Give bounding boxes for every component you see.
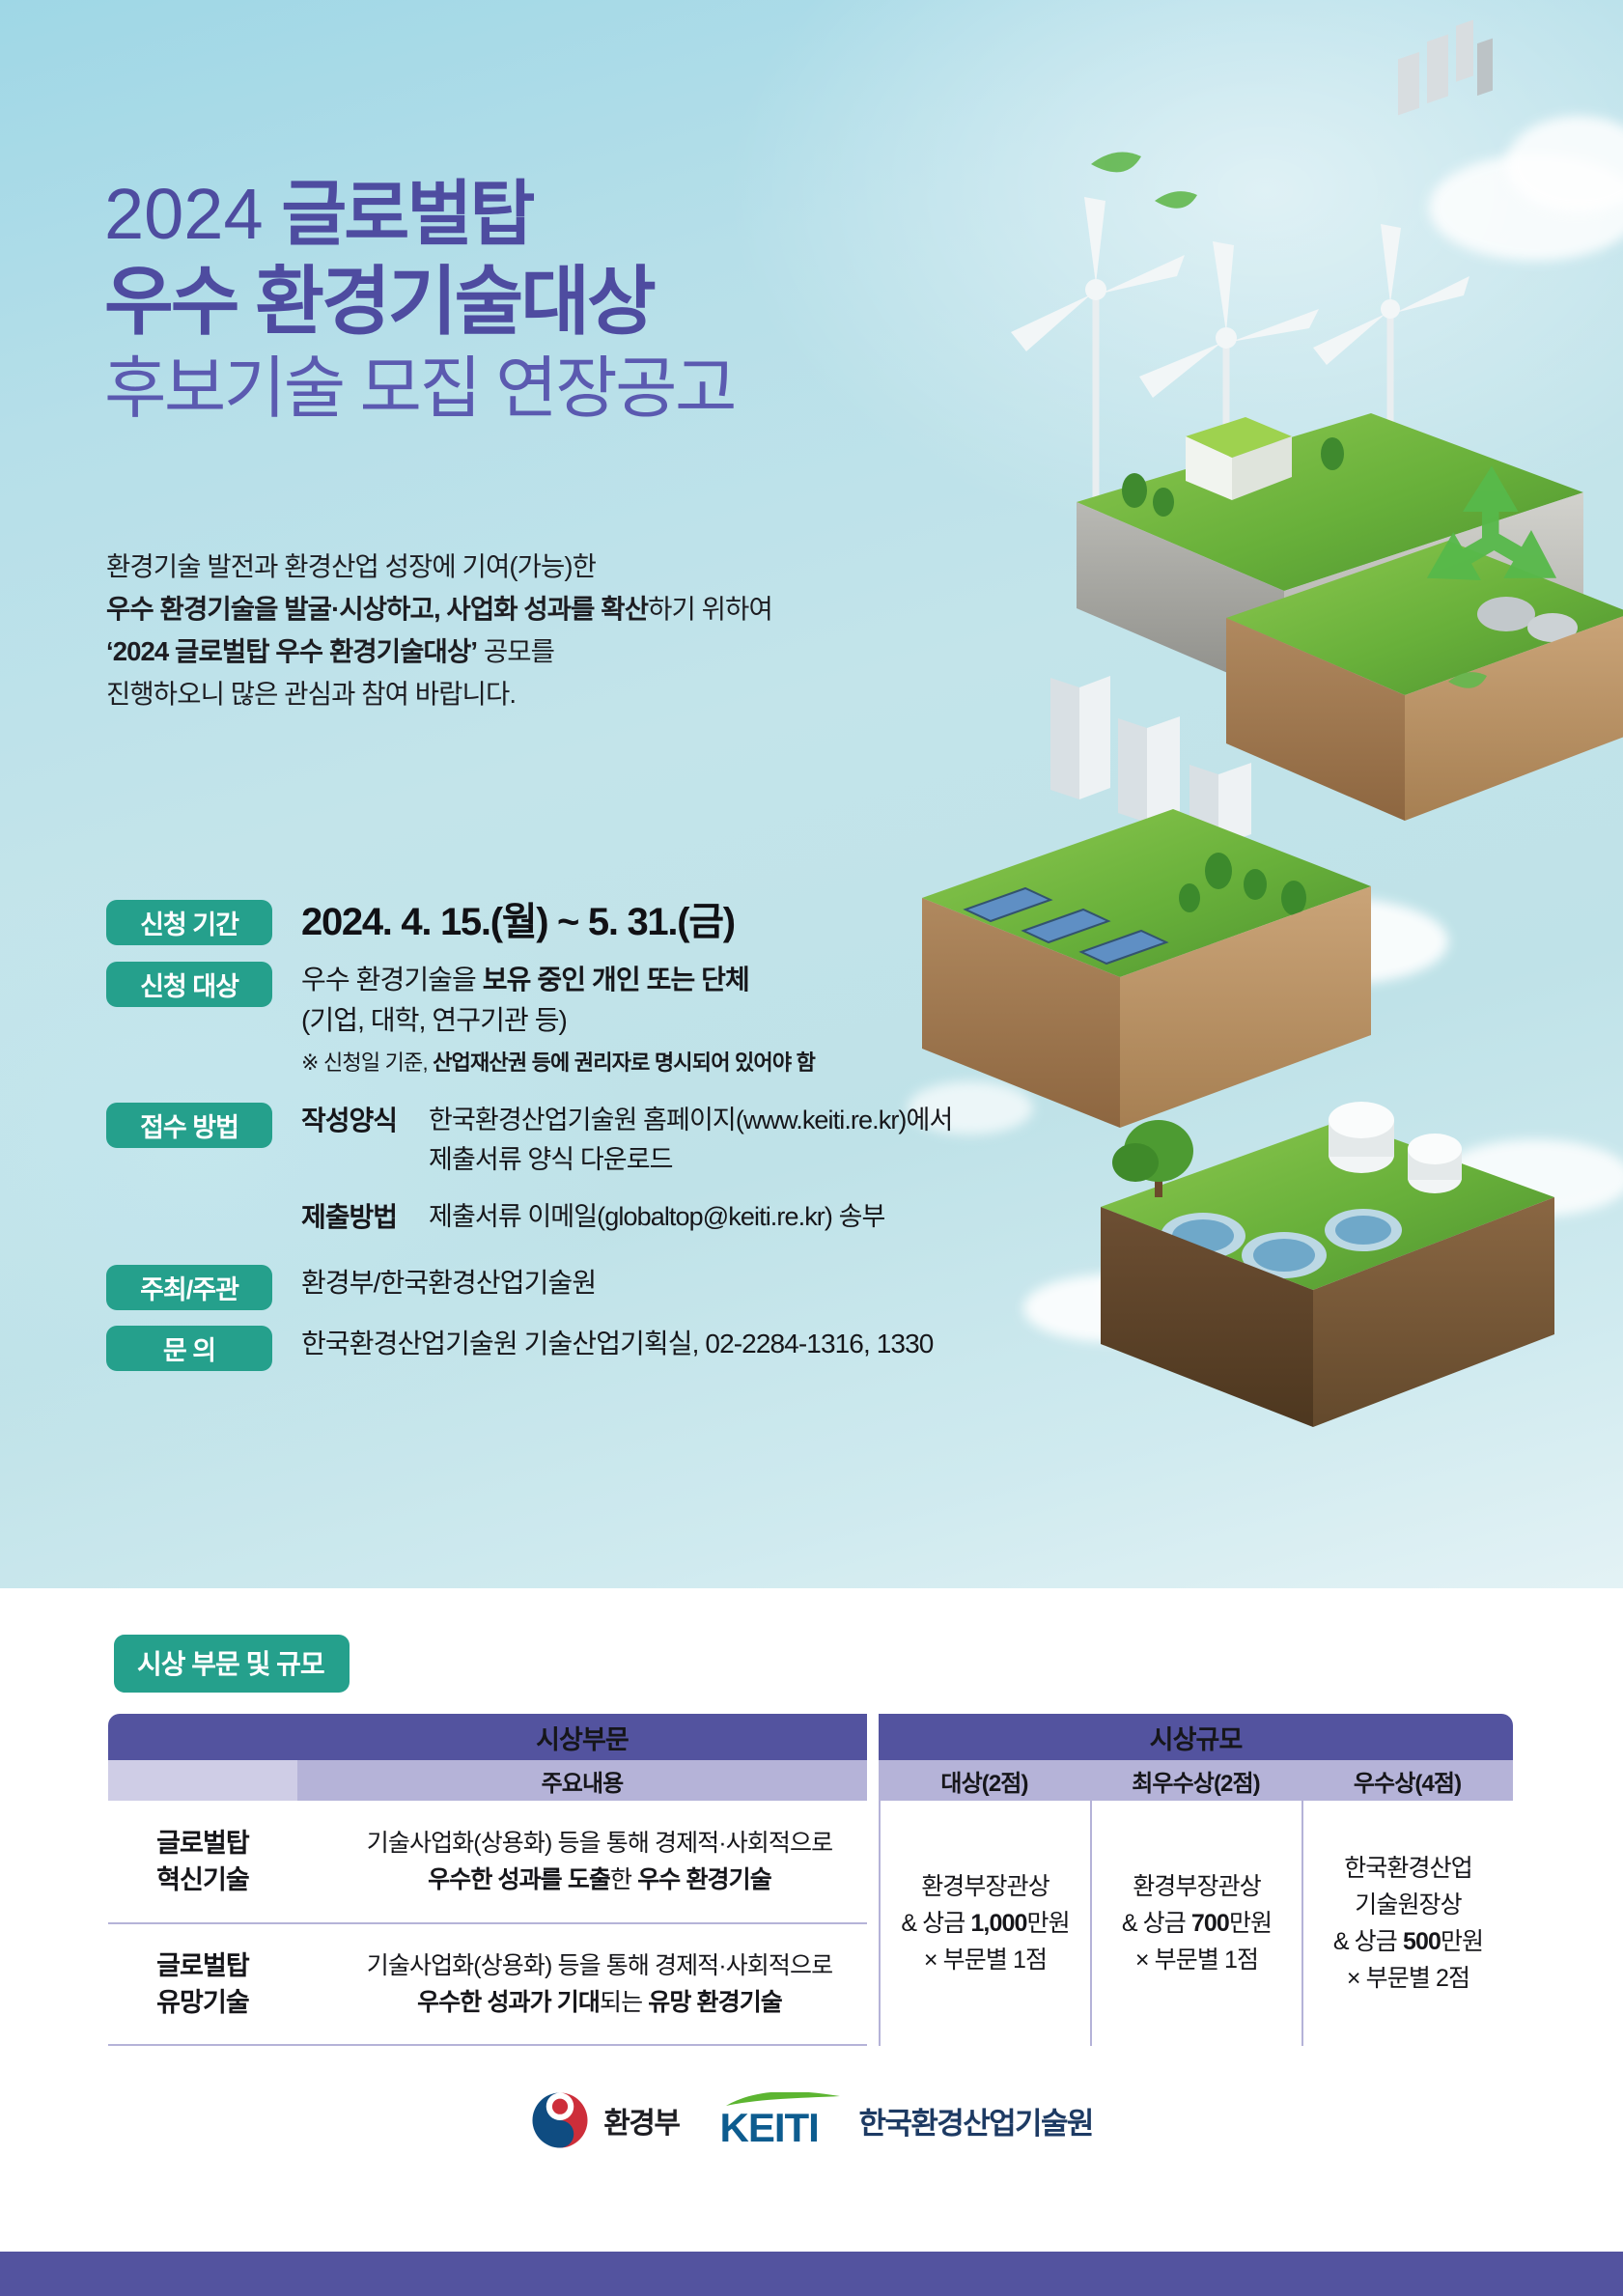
subheader-grand-prize: 대상(2점)	[879, 1760, 1090, 1801]
announcement-info-list: 신청 기간 2024. 4. 15.(월) ~ 5. 31.(금) 신청 대상 …	[106, 898, 1188, 1385]
row2-desc-line2: 우수한 성과가 기대되는 유망 환경기술	[332, 1984, 867, 2021]
header-column-gap	[867, 1714, 879, 1760]
table-row: 글로벌탑 혁신기술 기술사업화(상용화) 등을 통해 경제적·사회적으로 우수한…	[108, 1801, 1513, 1924]
prize-excellent-suffix: 만원	[1229, 1910, 1272, 1937]
prize-grand-line2: & 상금 1,000만원	[886, 1905, 1084, 1942]
info-row-period: 신청 기간 2024. 4. 15.(월) ~ 5. 31.(금)	[106, 898, 1188, 946]
intro-line-3: ‘2024 글로벌탑 우수 환경기술대상’ 공모를	[106, 630, 772, 673]
prize-excellent-line3: × 부문별 1점	[1098, 1942, 1296, 1978]
cloud-decoration	[1226, 898, 1448, 985]
method-submit-label: 제출방법	[301, 1197, 429, 1238]
subheader-merit-prize: 우수상(4점)	[1301, 1760, 1513, 1801]
taegeuk-icon	[530, 2090, 590, 2150]
info-contact-body: 한국환경산업기술원 기술산업기획실, 02-2284-1316, 1330	[301, 1324, 933, 1364]
keiti-logo-group: KEITI 한국환경산업기술원	[720, 2092, 1093, 2148]
prize-grand-line1: 환경부장관상	[886, 1868, 1084, 1905]
row1-desc-plain: 한	[610, 1866, 637, 1893]
header-award-scale: 시상규모	[879, 1714, 1513, 1760]
prize-merit-suffix: 만원	[1441, 1928, 1483, 1955]
awards-header-sub-row: 주요내용 대상(2점) 최우수상(2점) 우수상(4점)	[108, 1760, 1513, 1801]
method-form-row: 작성양식 한국환경산업기술원 홈페이지(www.keiti.re.kr)에서 제…	[301, 1101, 952, 1180]
awards-panel: 시상 부문 및 규모 시상부문 시상규모 주요내용 대상(2점) 최우수상(2점…	[0, 1588, 1623, 2296]
subheader-blank	[108, 1760, 297, 1801]
badge-application-method: 접수 방법	[106, 1103, 272, 1148]
house-icon	[1186, 417, 1292, 961]
prize-excellent-cell: 환경부장관상 & 상금 700만원 × 부문별 1점	[1090, 1801, 1301, 2046]
row1-desc-line2: 우수한 성과를 도출한 우수 환경기술	[332, 1862, 867, 1898]
target-line-1-plain: 우수 환경기술을	[301, 965, 483, 994]
note-bold: 산업재산권 등에 권리자로 명시되어 있어야 함	[433, 1050, 815, 1075]
row2-category-line1: 글로벌탑	[108, 1947, 297, 1984]
prize-grand-prefix: & 상금	[901, 1910, 970, 1937]
row2-description: 기술사업화(상용화) 등을 통해 경제적·사회적으로 우수한 성과가 기대되는 …	[297, 1924, 867, 2046]
title-year: 2024	[104, 174, 264, 254]
prize-merit-line2: & 상금 500만원	[1309, 1923, 1507, 1960]
row2-desc-plain: 되는	[600, 1989, 648, 2016]
prize-excellent-line1: 환경부장관상	[1098, 1868, 1296, 1905]
row1-category-line1: 글로벌탑	[108, 1825, 297, 1862]
cloud-decoration	[1439, 1139, 1623, 1217]
badge-application-target: 신청 대상	[106, 962, 272, 1007]
row2-category-line2: 유망기술	[108, 1984, 297, 2021]
prize-grand-line3: × 부문별 1점	[886, 1942, 1084, 1978]
application-period-value: 2024. 4. 15.(월) ~ 5. 31.(금)	[301, 898, 735, 946]
info-row-target: 신청 대상 우수 환경기술을 보유 중인 개인 또는 단체 (기업, 대학, 연…	[106, 960, 1188, 1079]
note-plain: 신청일 기준,	[323, 1050, 433, 1075]
row1-desc-bold2: 우수 환경기술	[637, 1866, 771, 1893]
row2-desc-bold1: 우수한 성과가 기대	[417, 1989, 600, 2016]
prize-merit-prefix: & 상금	[1333, 1928, 1403, 1955]
intro-line-2-bold: 우수 환경기술을 발굴·시상하고, 사업화 성과를 확산	[106, 594, 648, 624]
row2-category: 글로벌탑 유망기술	[108, 1924, 297, 2046]
keiti-korean-name: 한국환경산업기술원	[859, 2099, 1093, 2142]
title-main: 글로벌탑	[281, 174, 532, 254]
intro-line-4: 진행하오니 많은 관심과 참여 바랍니다.	[106, 673, 772, 715]
awards-section-badge: 시상 부문 및 규모	[114, 1635, 350, 1693]
info-row-contact: 문 의 한국환경산업기술원 기술산업기획실, 02-2284-1316, 133…	[106, 1324, 1188, 1371]
row1-desc-bold1: 우수한 성과를 도출	[428, 1866, 610, 1893]
info-method-body: 작성양식 한국환경산업기술원 홈페이지(www.keiti.re.kr)에서 제…	[301, 1101, 952, 1238]
poster-hero-panel: 2024 글로벌탑 우수 환경기술대상 후보기술 모집 연장공고 환경기술 발전…	[0, 0, 1623, 1588]
intro-paragraph: 환경기술 발전과 환경산업 성장에 기여(가능)한 우수 환경기술을 발굴·시상…	[106, 546, 772, 715]
row-gap-cell	[867, 1924, 879, 2046]
method-form-line-1: 한국환경산업기술원 홈페이지(www.keiti.re.kr)에서	[429, 1101, 952, 1140]
method-form-text: 한국환경산업기술원 홈페이지(www.keiti.re.kr)에서 제출서류 양…	[429, 1101, 952, 1180]
target-line-1: 우수 환경기술을 보유 중인 개인 또는 단체	[301, 960, 815, 1000]
info-row-host: 주최/주관 환경부/한국환경산업기술원	[106, 1263, 1188, 1310]
row1-category-line2: 혁신기술	[108, 1862, 297, 1898]
intro-line-2-tail: 하기 위하여	[648, 594, 772, 624]
awards-table: 시상부문 시상규모 주요내용 대상(2점) 최우수상(2점) 우수상(4점) 글…	[108, 1714, 1513, 2046]
moe-logo-group: 환경부	[530, 2090, 679, 2150]
subheader-main-content: 주요내용	[297, 1760, 867, 1801]
subheader-excellent-prize: 최우수상(2점)	[1090, 1760, 1301, 1801]
keiti-wordmark: KEITI	[720, 2108, 819, 2148]
row2-desc-bold2: 유망 환경기술	[648, 1989, 782, 2016]
title-line-2: 우수 환경기술대상	[104, 257, 735, 346]
intro-line-3-bold: ‘2024 글로벌탑 우수 환경기술대상’	[106, 636, 477, 666]
row1-description: 기술사업화(상용화) 등을 통해 경제적·사회적으로 우수한 성과를 도출한 우…	[297, 1801, 867, 1924]
badge-contact: 문 의	[106, 1326, 272, 1371]
prize-merit-cell: 한국환경산업 기술원장상 & 상금 500만원 × 부문별 2점	[1301, 1801, 1513, 2046]
bottom-accent-bar	[0, 2252, 1623, 2296]
badge-application-period: 신청 기간	[106, 900, 272, 945]
info-target-body: 우수 환경기술을 보유 중인 개인 또는 단체 (기업, 대학, 연구기관 등)…	[301, 960, 815, 1079]
prize-merit-line3: × 부문별 2점	[1309, 1960, 1507, 1997]
intro-line-1: 환경기술 발전과 환경산업 성장에 기여(가능)한	[106, 546, 772, 588]
prize-merit-line1b: 기술원장상	[1309, 1887, 1507, 1923]
method-form-label: 작성양식	[301, 1101, 429, 1141]
factory-icon	[1398, 20, 1578, 642]
header-blank-corner	[108, 1714, 297, 1760]
info-period-body: 2024. 4. 15.(월) ~ 5. 31.(금)	[301, 898, 735, 946]
prize-merit-line1: 한국환경산업	[1309, 1850, 1507, 1887]
badge-host-organizer: 주최/주관	[106, 1265, 272, 1310]
target-note: ※ 신청일 기준, 산업재산권 등에 권리자로 명시되어 있어야 함	[301, 1047, 815, 1079]
intro-line-2: 우수 환경기술을 발굴·시상하고, 사업화 성과를 확산하기 위하여	[106, 588, 772, 630]
footer-logo-row: 환경부 KEITI 한국환경산업기술원	[0, 2090, 1623, 2150]
target-line-1-bold: 보유 중인 개인 또는 단체	[483, 965, 749, 994]
title-line-3: 후보기술 모집 연장공고	[104, 346, 735, 431]
prize-grand-cell: 환경부장관상 & 상금 1,000만원 × 부문별 1점	[879, 1801, 1090, 2046]
row1-category: 글로벌탑 혁신기술	[108, 1801, 297, 1924]
keiti-mark: KEITI	[720, 2092, 846, 2148]
prize-excellent-prefix: & 상금	[1122, 1910, 1191, 1937]
prize-excellent-amount: 700	[1191, 1910, 1229, 1937]
prize-grand-suffix: 만원	[1026, 1910, 1069, 1937]
recycle-icon	[1413, 466, 1571, 603]
info-host-body: 환경부/한국환경산업기술원	[301, 1263, 596, 1303]
prize-grand-amount: 1,000	[970, 1910, 1026, 1937]
row2-desc-line1: 기술사업화(상용화) 등을 통해 경제적·사회적으로	[332, 1947, 867, 1984]
poster-title-block: 2024 글로벌탑 우수 환경기술대상 후보기술 모집 연장공고	[104, 172, 735, 431]
subheader-column-gap	[867, 1760, 879, 1801]
info-row-method: 접수 방법 작성양식 한국환경산업기술원 홈페이지(www.keiti.re.k…	[106, 1101, 1188, 1238]
ministry-of-environment-label: 환경부	[603, 2099, 679, 2142]
title-line-1: 2024 글로벌탑	[104, 172, 735, 257]
row1-desc-line1: 기술사업화(상용화) 등을 통해 경제적·사회적으로	[332, 1825, 867, 1862]
method-submit-row: 제출방법 제출서류 이메일(globaltop@keiti.re.kr) 송부	[301, 1197, 952, 1238]
awards-header-top-row: 시상부문 시상규모	[108, 1714, 1513, 1760]
leaf-icon	[1091, 153, 1487, 688]
prize-excellent-line2: & 상금 700만원	[1098, 1905, 1296, 1942]
intro-line-3-tail: 공모를	[477, 636, 554, 666]
row-gap-cell	[867, 1801, 879, 1924]
note-mark: ※	[301, 1050, 323, 1075]
method-form-line-2: 제출서류 양식 다운로드	[429, 1140, 952, 1180]
method-submit-text: 제출서류 이메일(globaltop@keiti.re.kr) 송부	[429, 1197, 884, 1237]
island-house-turbines	[1011, 197, 1583, 961]
target-line-2: (기업, 대학, 연구기관 등)	[301, 1000, 815, 1041]
prize-merit-amount: 500	[1403, 1928, 1441, 1955]
header-award-category: 시상부문	[297, 1714, 867, 1760]
